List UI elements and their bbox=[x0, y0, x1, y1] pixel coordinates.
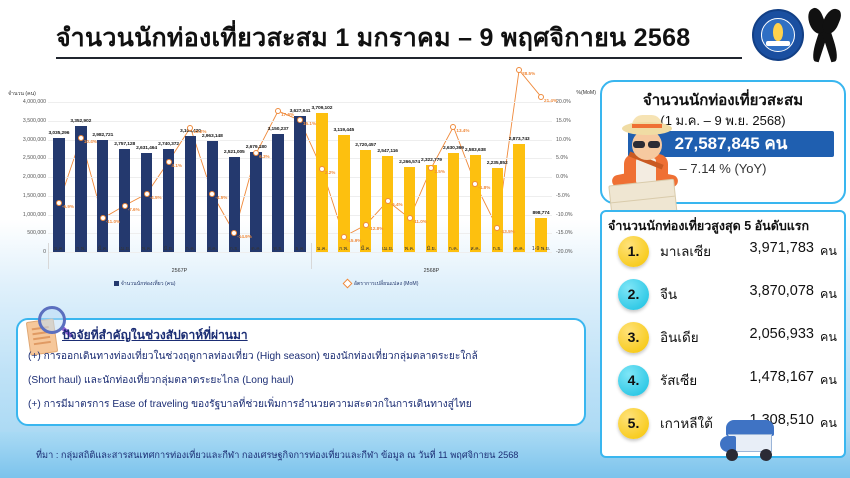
y-tick-right: 20.0% bbox=[556, 99, 571, 105]
bar bbox=[426, 165, 437, 252]
ministry-seal-icon bbox=[752, 9, 804, 61]
traveler-illustration bbox=[604, 110, 690, 222]
rank-country: เกาหลีใต้ bbox=[660, 412, 726, 434]
rank-badge: 5. bbox=[618, 408, 649, 439]
mom-pct-label: 2.5% bbox=[434, 169, 444, 174]
chart-plot-area: 3,035,2963,352,9022,982,7212,757,1282,63… bbox=[48, 102, 552, 253]
legend-label-bar: จำนวนนักท่องเที่ยว (คน) bbox=[121, 281, 176, 287]
mom-pct-label: -14.9% bbox=[237, 234, 252, 239]
bar bbox=[513, 144, 524, 252]
y-tick-left: 1,500,000 bbox=[23, 193, 46, 199]
bar-value-label: 2,235,852 bbox=[487, 161, 508, 166]
mom-pct-label: 17.6% bbox=[281, 112, 294, 117]
mom-pct-label: -4.5% bbox=[215, 195, 227, 200]
rank-country: มาเลเซีย bbox=[660, 240, 726, 262]
bar-value-label: 2,521,005 bbox=[224, 150, 245, 155]
legend-label-line: อัตราการเปลี่ยนแปลง (MoM) bbox=[354, 281, 419, 287]
card-title: จำนวนนักท่องเที่ยวสะสม bbox=[602, 88, 844, 112]
bar-value-label: 2,720,457 bbox=[355, 143, 376, 148]
mom-pct-label: -7.6% bbox=[128, 207, 140, 212]
top5-row: 2.จีน3,870,078คน bbox=[610, 277, 842, 314]
top5-row: 4.รัสเซีย1,478,167คน bbox=[610, 363, 842, 400]
mom-pct-label: -15.9% bbox=[347, 238, 362, 243]
source-note: ที่มา : กลุ่มสถิติและสารสนเทศการท่องเที่… bbox=[36, 448, 576, 463]
y-axis-title: จำนวน (คน) bbox=[8, 90, 36, 98]
bar-value-label: 2,266,574 bbox=[399, 160, 420, 165]
bar bbox=[470, 155, 481, 252]
bar-value-label: 2,757,128 bbox=[114, 142, 135, 147]
top5-title: จำนวนนักท่องเที่ยวสูงสุด 5 อันดับแรก bbox=[608, 216, 809, 236]
bar-value-label: 3,035,296 bbox=[49, 131, 70, 136]
key-factors-box: ปัจจัยที่สำคัญในช่วงสัปดาห์ที่ผ่านมา (+)… bbox=[16, 318, 586, 426]
rank-badge: 1. bbox=[618, 236, 649, 267]
legend-swatch-bar bbox=[114, 281, 119, 286]
mom-pct-label: -13.5% bbox=[500, 229, 515, 234]
mom-pct-label: 2.2% bbox=[325, 170, 335, 175]
mom-pct-label: -11.0% bbox=[413, 219, 427, 224]
mom-pct-label: -1.8% bbox=[478, 185, 490, 190]
rank-value: 2,056,933 bbox=[722, 326, 814, 342]
x-group-separator bbox=[48, 243, 311, 269]
bar-value-label: 3,709,102 bbox=[311, 106, 332, 111]
mom-pct-label: -12.8% bbox=[369, 226, 384, 231]
y-tick-left: 500,000 bbox=[27, 230, 46, 236]
page-title: จำนวนนักท่องเที่ยวสะสม 1 มกราคม – 9 พฤศจ… bbox=[56, 18, 746, 58]
rank-badge: 4. bbox=[618, 365, 649, 396]
bar bbox=[294, 116, 305, 252]
legend-bar-series: จำนวนนักท่องเที่ยว (คน) bbox=[114, 280, 176, 288]
mom-pct-label: 13.4% bbox=[456, 128, 469, 133]
bar bbox=[119, 149, 130, 252]
bar-value-label: 2,873,743 bbox=[509, 137, 530, 142]
mom-pct-label: 15.1% bbox=[303, 121, 316, 126]
bar bbox=[185, 136, 196, 252]
mom-pct-label: 4.1% bbox=[172, 163, 182, 168]
bar bbox=[448, 153, 459, 252]
y-tick-left: 3,500,000 bbox=[23, 118, 46, 124]
title-divider bbox=[56, 57, 742, 59]
mom-pct-label: 13.2% bbox=[193, 129, 206, 134]
rank-value: 3,870,078 bbox=[722, 283, 814, 299]
bar-value-label: 2,631,464 bbox=[136, 146, 157, 151]
rank-country: จีน bbox=[660, 283, 726, 305]
bar bbox=[141, 153, 152, 252]
bar bbox=[404, 167, 415, 252]
y-tick-left: 0 bbox=[43, 249, 46, 255]
key-factors-title: ปัจจัยที่สำคัญในช่วงสัปดาห์ที่ผ่านมา bbox=[62, 326, 248, 345]
y-tick-right: 10.0% bbox=[556, 137, 571, 143]
y-tick-right: -15.0% bbox=[556, 230, 572, 236]
y-tick-right: 5.0% bbox=[556, 155, 568, 161]
y-tick-left: 2,500,000 bbox=[23, 155, 46, 161]
mom-pct-label: 21.4% bbox=[544, 98, 557, 103]
bar-value-label: 2,583,638 bbox=[465, 148, 486, 153]
bar bbox=[53, 138, 64, 252]
y-tick-right: -5.0% bbox=[556, 193, 570, 199]
y-tick-left: 4,000,000 bbox=[23, 99, 46, 105]
mom-pct-label: -4.5% bbox=[150, 195, 162, 200]
mom-pct-label: 10.4% bbox=[84, 139, 97, 144]
y-tick-right: 0.0% bbox=[556, 174, 568, 180]
mourning-ribbon-icon bbox=[808, 8, 842, 64]
bar-value-label: 2,547,116 bbox=[377, 149, 398, 154]
key-factor-line: (Short haul) และนักท่องเที่ยวกลุ่มตลาดระ… bbox=[28, 372, 294, 388]
top5-row: 3.อินเดีย2,056,933คน bbox=[610, 320, 842, 357]
gridline bbox=[48, 102, 552, 103]
mom-pct-label: -6.9% bbox=[62, 204, 74, 209]
y-axis-left: 0500,0001,000,0001,500,0002,000,0002,500… bbox=[2, 102, 46, 252]
tuktuk-illustration bbox=[720, 418, 784, 464]
bar bbox=[250, 152, 261, 252]
bar bbox=[360, 150, 371, 252]
bar bbox=[75, 126, 86, 252]
bar-value-label: 3,352,902 bbox=[70, 119, 91, 124]
rank-unit: คน bbox=[820, 327, 837, 347]
rank-country: อินเดีย bbox=[660, 326, 726, 348]
rank-unit: คน bbox=[820, 370, 837, 390]
y-tick-right: 15.0% bbox=[556, 118, 571, 124]
bar-value-label: 2,740,372 bbox=[158, 142, 179, 147]
x-group-separator bbox=[311, 243, 552, 269]
y-tick-left: 3,000,000 bbox=[23, 137, 46, 143]
bar-value-label: 3,119,445 bbox=[334, 128, 355, 133]
bar-value-label: 3,150,237 bbox=[268, 127, 289, 132]
mom-pct-label: -11.0% bbox=[106, 219, 120, 224]
bar-value-label: 2,322,779 bbox=[421, 158, 442, 163]
key-factor-line: (+) การออกเดินทางท่องเที่ยวในช่วงฤดูกาลท… bbox=[28, 348, 478, 364]
y-tick-left: 1,000,000 bbox=[23, 212, 46, 218]
bar bbox=[316, 113, 327, 252]
y2-axis-title: %(MoM) bbox=[576, 90, 596, 96]
y-tick-right: -20.0% bbox=[556, 249, 572, 255]
rank-badge: 3. bbox=[618, 322, 649, 353]
y-tick-right: -10.0% bbox=[556, 212, 572, 218]
tourist-arrivals-chart: จำนวน (คน) %(MoM) 0500,0001,000,0001,500… bbox=[2, 92, 598, 292]
top5-row: 1.มาเลเซีย3,971,783คน bbox=[610, 234, 842, 271]
bar-value-label: 2,963,148 bbox=[202, 134, 223, 139]
legend-swatch-line bbox=[342, 279, 352, 289]
bar-value-label: 2,630,369 bbox=[443, 146, 464, 151]
bar bbox=[97, 140, 108, 252]
rank-value: 1,478,167 bbox=[722, 369, 814, 385]
rank-value: 3,971,783 bbox=[722, 240, 814, 256]
bar bbox=[272, 134, 283, 252]
page-header: จำนวนนักท่องเที่ยวสะสม 1 มกราคม – 9 พฤศจ… bbox=[0, 0, 850, 72]
bar-value-label: 2,679,180 bbox=[246, 145, 267, 150]
y-tick-left: 2,000,000 bbox=[23, 174, 46, 180]
bar-value-label: 2,982,721 bbox=[92, 133, 113, 138]
mom-pct-label: -6.4% bbox=[391, 202, 403, 207]
bar-value-label: 898,774 bbox=[533, 211, 550, 216]
mom-pct-label: 6.3% bbox=[259, 154, 269, 159]
legend-line-series: อัตราการเปลี่ยนแปลง (MoM) bbox=[344, 280, 419, 288]
rank-badge: 2. bbox=[618, 279, 649, 310]
mom-pct-label: 28.5% bbox=[522, 71, 535, 76]
rank-country: รัสเซีย bbox=[660, 369, 726, 391]
rank-unit: คน bbox=[820, 284, 837, 304]
key-factor-line: (+) การมีมาตรการ Ease of traveling ของรั… bbox=[28, 396, 472, 412]
y-axis-right: -20.0%-15.0%-10.0%-5.0%0.0%5.0%10.0%15.0… bbox=[554, 102, 598, 252]
rank-unit: คน bbox=[820, 413, 837, 433]
rank-unit: คน bbox=[820, 241, 837, 261]
bar bbox=[492, 168, 503, 252]
